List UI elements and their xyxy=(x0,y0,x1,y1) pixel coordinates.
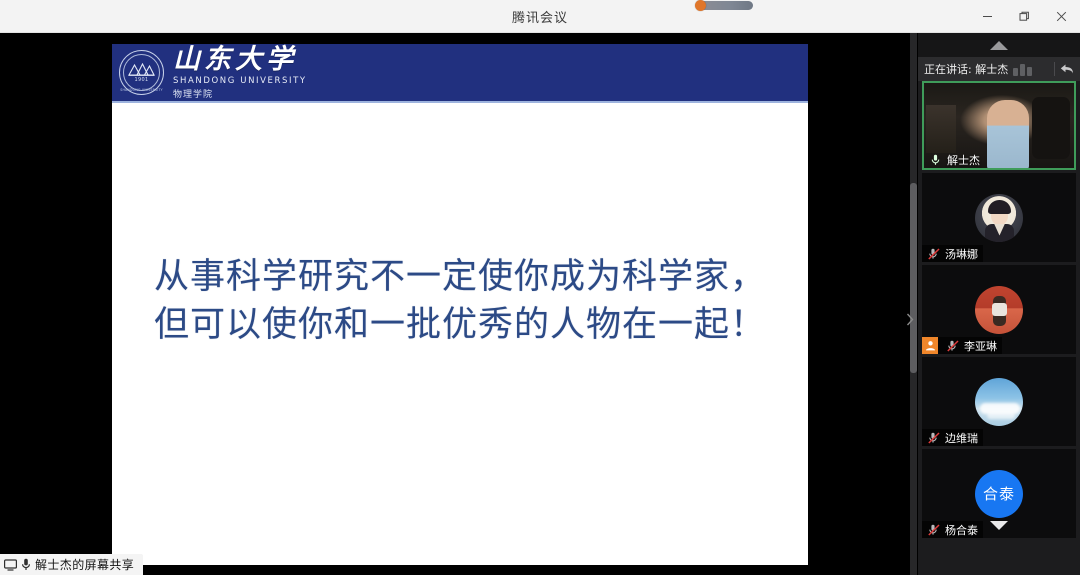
title-bar: 腾讯会议 xyxy=(0,0,1080,33)
shared-screen-stage[interactable]: 1901 SHANDONG UNIVERSITY 山东大学 SHANDONG U… xyxy=(0,33,918,575)
participant-name: 解士杰 xyxy=(947,152,980,168)
avatar-initials: 合泰 xyxy=(975,470,1023,518)
volume-waves-icon xyxy=(1013,63,1049,76)
shared-slide: 1901 SHANDONG UNIVERSITY 山东大学 SHANDONG U… xyxy=(112,44,808,565)
participant-name: 汤琳娜 xyxy=(945,246,978,262)
participant-namebar: 边维瑞 xyxy=(922,429,983,446)
toolbar-handle-dot[interactable] xyxy=(695,0,706,11)
window-controls xyxy=(969,0,1080,33)
university-wordmark: 山东大学 SHANDONG UNIVERSITY 物理学院 xyxy=(173,46,307,100)
participant-namebar: 汤琳娜 xyxy=(922,245,983,262)
participant-tile-0[interactable]: 解士杰 xyxy=(922,81,1076,170)
scroll-up-button[interactable] xyxy=(918,33,1080,57)
chevron-right-icon xyxy=(906,313,914,326)
panel-collapse-button[interactable] xyxy=(902,299,918,339)
slide-quote-line-1: 从事科学研究不一定使你成为科学家， xyxy=(154,257,766,297)
reply-arrow-icon[interactable] xyxy=(1060,63,1074,75)
microphone-muted-icon xyxy=(944,340,961,352)
active-speaker-label: 正在讲话: 解士杰 xyxy=(924,61,1008,77)
monitor-icon xyxy=(4,559,17,571)
share-status-text: 解士杰的屏幕共享 xyxy=(35,556,134,573)
active-speaker-bar: 正在讲话: 解士杰 xyxy=(918,57,1080,81)
screen-share-status-bar: 解士杰的屏幕共享 xyxy=(0,554,143,575)
window-title: 腾讯会议 xyxy=(0,7,1080,26)
collapsed-meeting-toolbar[interactable] xyxy=(697,1,753,10)
restore-button[interactable] xyxy=(1006,0,1043,33)
participant-namebar: 解士杰 xyxy=(924,151,985,168)
slide-body: 从事科学研究不一定使你成为科学家， 但可以使你和一批优秀的人物在一起！ xyxy=(112,103,808,565)
emblem-year: 1901 xyxy=(119,77,164,83)
university-emblem-icon: 1901 SHANDONG UNIVERSITY xyxy=(119,50,164,95)
microphone-muted-icon xyxy=(925,248,942,260)
participant-tile-2[interactable]: 李亚琳 xyxy=(922,265,1076,354)
participant-tiles: 解士杰 xyxy=(918,81,1080,538)
microphone-icon xyxy=(21,558,31,571)
chevron-down-icon xyxy=(990,521,1008,530)
microphone-icon xyxy=(927,154,944,166)
slide-quote: 从事科学研究不一定使你成为科学家， 但可以使你和一批优秀的人物在一起！ xyxy=(150,253,770,350)
host-badge-icon xyxy=(922,337,938,354)
university-name-cn: 山东大学 xyxy=(173,46,307,73)
participant-name: 边维瑞 xyxy=(945,430,978,446)
slide-banner: 1901 SHANDONG UNIVERSITY 山东大学 SHANDONG U… xyxy=(112,44,808,103)
microphone-muted-icon xyxy=(925,432,942,444)
slide-quote-line-2: 但可以使你和一批优秀的人物在一起！ xyxy=(150,301,770,349)
tencent-meeting-window: 腾讯会议 xyxy=(0,0,1080,575)
scroll-down-button[interactable] xyxy=(918,514,1080,536)
close-button[interactable] xyxy=(1043,0,1080,33)
university-name-en: SHANDONG UNIVERSITY xyxy=(173,76,307,86)
emblem-arc-text: SHANDONG UNIVERSITY xyxy=(119,88,164,92)
participant-tile-1[interactable]: 汤琳娜 xyxy=(922,173,1076,262)
participant-tile-3[interactable]: 边维瑞 xyxy=(922,357,1076,446)
department-name-cn: 物理学院 xyxy=(173,87,307,100)
participants-panel: 正在讲话: 解士杰 xyxy=(918,33,1080,575)
minimize-button[interactable] xyxy=(969,0,1006,33)
participant-namebar: 李亚琳 xyxy=(922,337,1002,354)
mountain-motif-icon xyxy=(128,63,155,76)
chevron-up-icon xyxy=(990,41,1008,50)
participant-name: 李亚琳 xyxy=(964,338,997,354)
scrollbar-thumb[interactable] xyxy=(910,183,917,373)
divider xyxy=(1054,62,1055,76)
